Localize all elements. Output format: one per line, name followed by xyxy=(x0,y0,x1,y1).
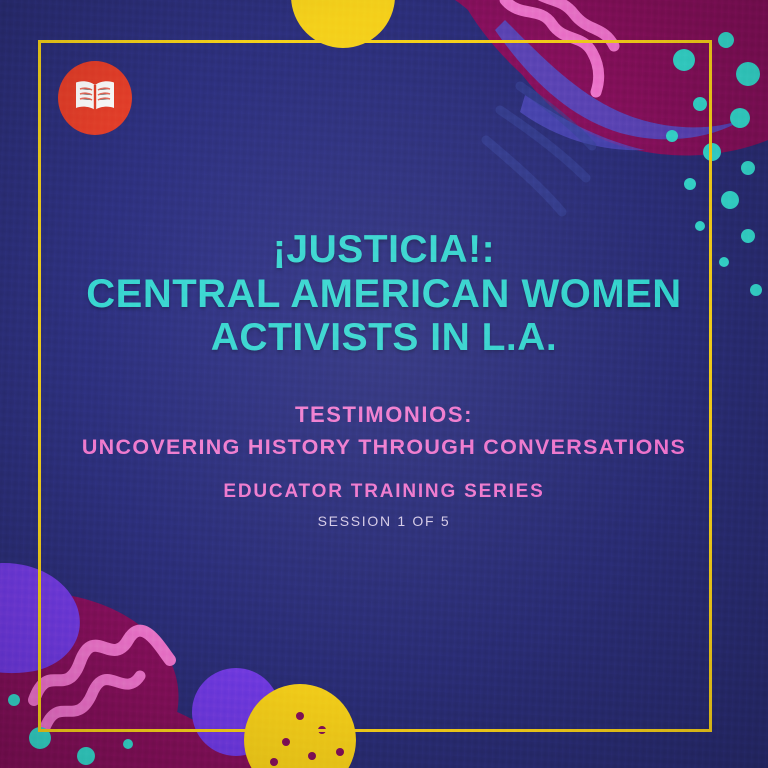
title-line-1: ¡JUSTICIA!: xyxy=(52,228,716,272)
subtitle-line-1: TESTIMONIOS: xyxy=(52,398,716,431)
subtitle-line-2: UNCOVERING HISTORY THROUGH CONVERSATIONS xyxy=(52,431,716,463)
open-book-badge xyxy=(58,61,132,135)
session-label: SESSION 1 OF 5 xyxy=(52,513,716,529)
poster-canvas: ¡JUSTICIA!: CENTRAL AMERICAN WOMEN ACTIV… xyxy=(0,0,768,768)
subtitle: TESTIMONIOS: UNCOVERING HISTORY THROUGH … xyxy=(52,398,716,463)
poster-text-block: ¡JUSTICIA!: CENTRAL AMERICAN WOMEN ACTIV… xyxy=(0,228,768,529)
page-title: ¡JUSTICIA!: CENTRAL AMERICAN WOMEN ACTIV… xyxy=(52,228,716,360)
open-book-icon xyxy=(73,78,117,119)
title-line-3: ACTIVISTS IN L.A. xyxy=(52,316,716,360)
series-label: EDUCATOR TRAINING SERIES xyxy=(52,481,716,503)
title-line-2: CENTRAL AMERICAN WOMEN xyxy=(52,272,716,317)
